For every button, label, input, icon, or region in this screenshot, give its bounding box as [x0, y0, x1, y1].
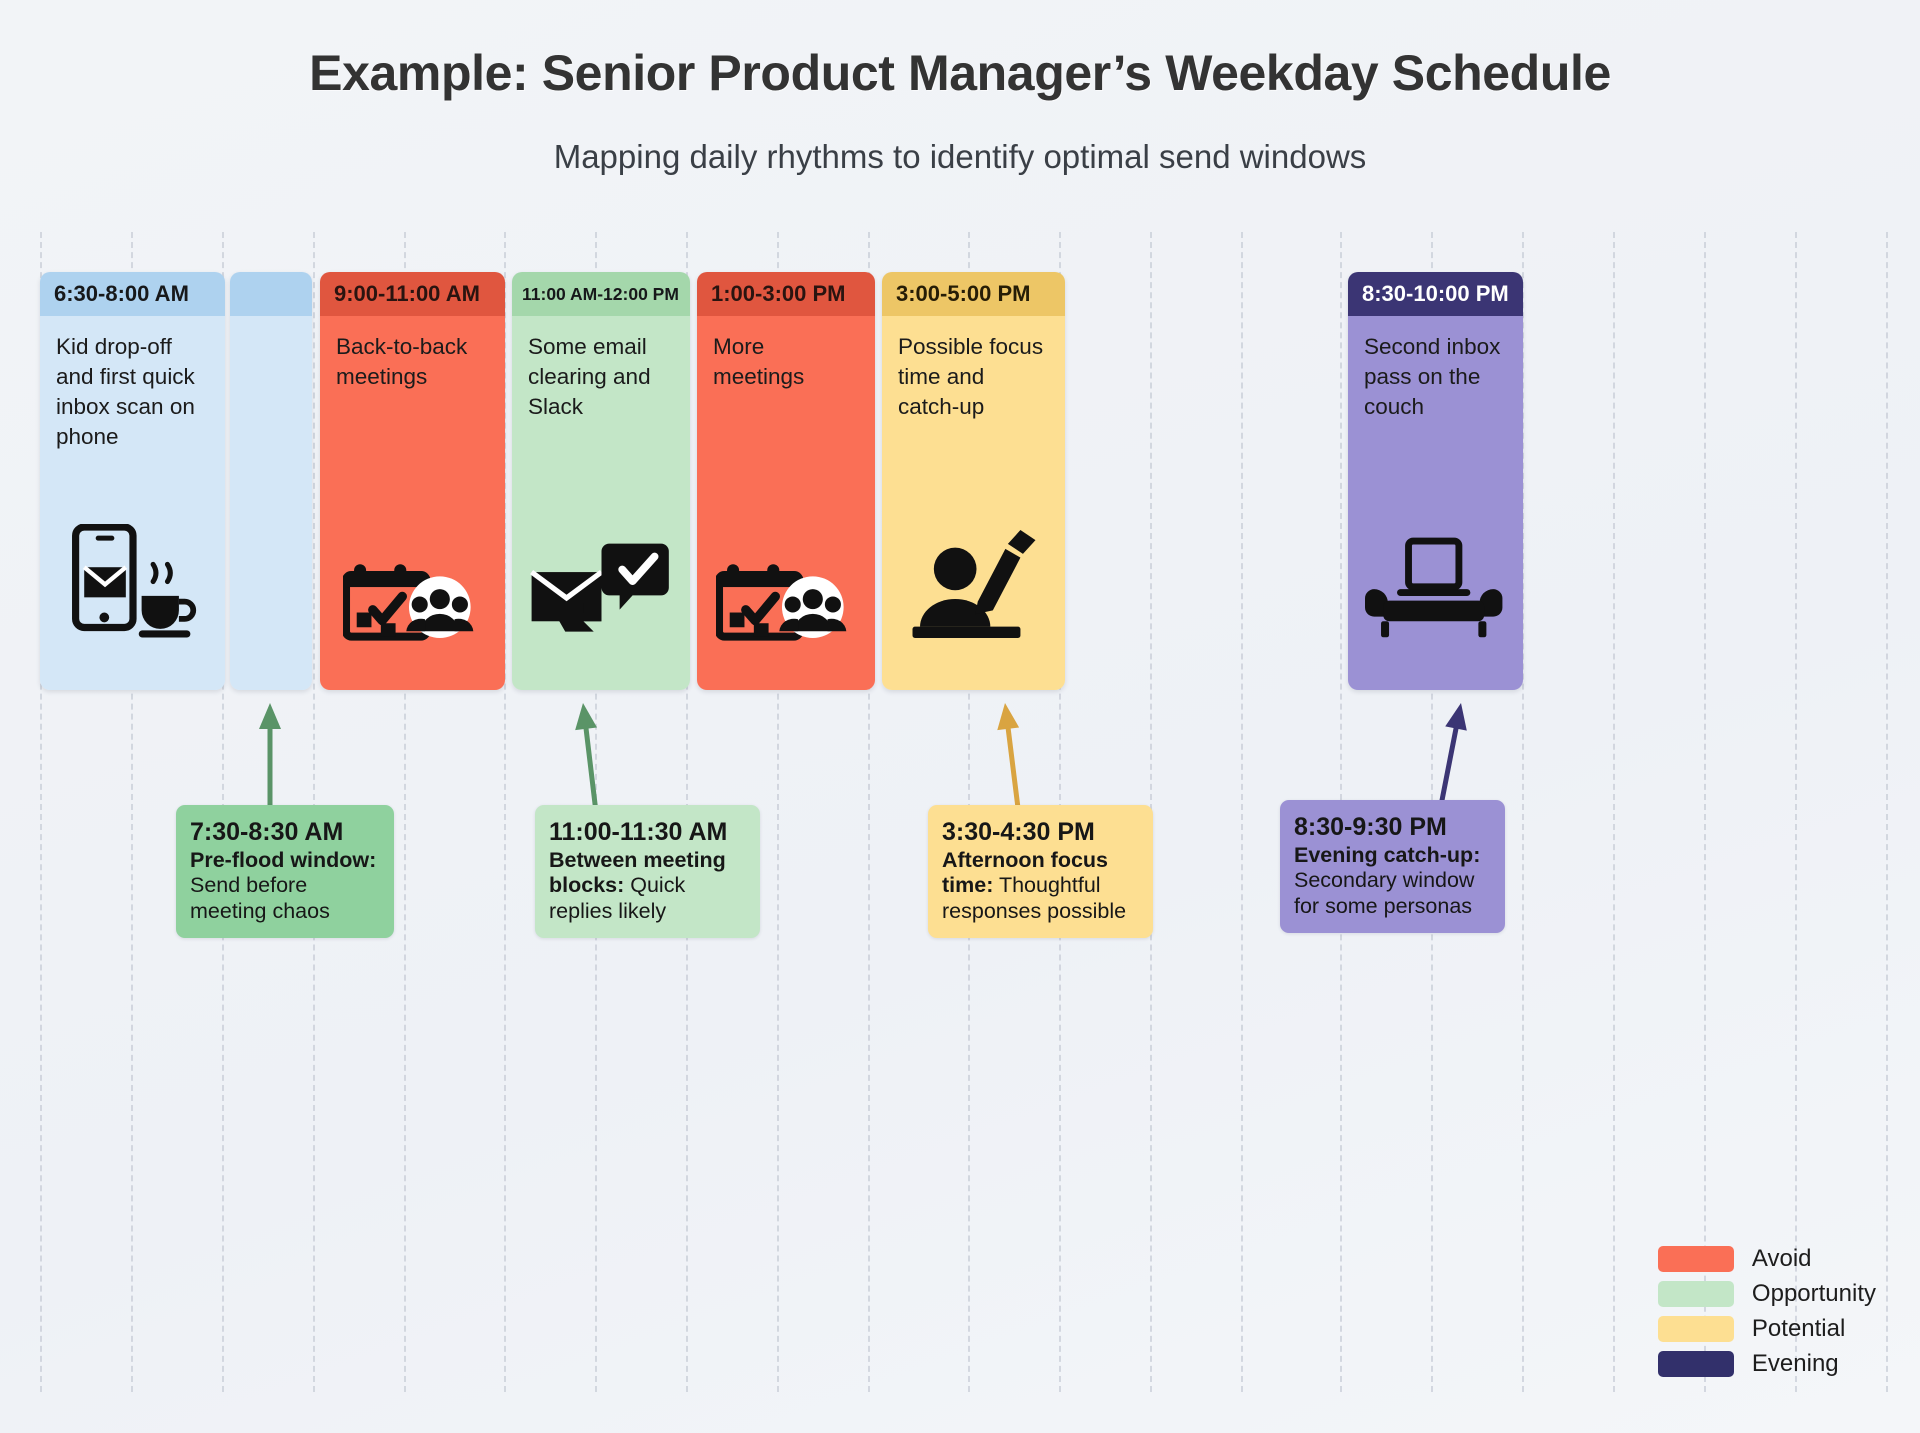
block-body: Back-to-back meetings [320, 316, 505, 690]
timeline-block-email-clearing[interactable]: 11:00 AM-12:00 PMSome email clearing and… [512, 272, 690, 690]
legend-swatch [1658, 1281, 1734, 1307]
timeline-block-back-to-back-meetings[interactable]: 9:00-11:00 AMBack-to-back meetings [320, 272, 505, 690]
arrow-head [259, 703, 281, 729]
block-time-label: 3:00-5:00 PM [882, 272, 1065, 316]
calendar-check-people-icon [697, 508, 875, 642]
laptop-couch-icon [1348, 534, 1523, 642]
block-description: Second inbox pass on the couch [1364, 332, 1507, 422]
block-description: Some email clearing and Slack [528, 332, 674, 422]
email-forward-check-icon [512, 541, 690, 642]
callout-label: Evening catch-up: [1294, 843, 1480, 867]
legend-swatch [1658, 1351, 1734, 1377]
block-time-label: 6:30-8:00 AM [40, 272, 225, 316]
block-description: Kid drop-off and first quick inbox scan … [56, 332, 209, 452]
block-time-label: 1:00-3:00 PM [697, 272, 875, 316]
calendar-check-people-icon [320, 508, 505, 642]
arrow-head [997, 703, 1019, 730]
legend-item-evening: Evening [1658, 1346, 1876, 1381]
callout-time: 7:30-8:30 AM [190, 818, 380, 847]
block-description: More meetings [713, 332, 859, 392]
callout-pre-flood-window[interactable]: 7:30-8:30 AMPre-flood window: Send befor… [176, 805, 394, 938]
callout-description: Pre-flood window: Send before meeting ch… [190, 848, 380, 924]
block-body: Kid drop-off and first quick inbox scan … [40, 316, 225, 690]
legend-item-potential: Potential [1658, 1311, 1876, 1346]
callout-label: Afternoon focus time: [942, 848, 1108, 897]
callout-time: 3:30-4:30 PM [942, 818, 1139, 847]
gridline-18 [1704, 232, 1706, 1392]
callout-time: 11:00-11:30 AM [549, 818, 746, 847]
gridline-17 [1613, 232, 1615, 1392]
timeline-block-evening-inbox[interactable]: 8:30-10:00 PMSecond inbox pass on the co… [1348, 272, 1523, 690]
callout-time: 8:30-9:30 PM [1294, 813, 1491, 842]
callout-description: Between meeting blocks: Quick replies li… [549, 848, 746, 924]
arrow-head [1445, 703, 1467, 731]
legend-label: Evening [1752, 1350, 1839, 1378]
callout-between-meeting-blocks[interactable]: 11:00-11:30 AMBetween meeting blocks: Qu… [535, 805, 760, 938]
legend-swatch [1658, 1246, 1734, 1272]
legend-label: Avoid [1752, 1245, 1812, 1273]
gridline-20 [1886, 232, 1888, 1392]
block-time-label: 11:00 AM-12:00 PM [512, 272, 690, 316]
block-time-label: 9:00-11:00 AM [320, 272, 505, 316]
callout-description: Afternoon focus time: Thoughtful respons… [942, 848, 1139, 924]
block-body: More meetings [697, 316, 875, 690]
timeline-block-focus-time[interactable]: 3:00-5:00 PMPossible focus time and catc… [882, 272, 1065, 690]
phone-email-coffee-icon [40, 524, 225, 642]
legend-item-opportunity: Opportunity [1658, 1276, 1876, 1311]
block-body: Possible focus time and catch-up [882, 316, 1065, 690]
legend-label: Opportunity [1752, 1280, 1876, 1308]
person-writing-icon [882, 526, 1065, 642]
block-time-label: 8:30-10:00 PM [1348, 272, 1523, 316]
callout-arrows [0, 0, 1920, 1433]
callout-evening-catch-up[interactable]: 8:30-9:30 PMEvening catch-up: Secondary … [1280, 800, 1505, 933]
timeline-block-more-meetings[interactable]: 1:00-3:00 PMMore meetings [697, 272, 875, 690]
legend-label: Potential [1752, 1315, 1845, 1343]
gridline-13 [1241, 232, 1243, 1392]
gridline-19 [1795, 232, 1797, 1392]
infographic-canvas: Example: Senior Product Manager’s Weekda… [0, 0, 1920, 1433]
callout-afternoon-focus-time[interactable]: 3:30-4:30 PMAfternoon focus time: Though… [928, 805, 1153, 938]
timeline-block-commute-gap[interactable] [230, 272, 312, 690]
block-body [230, 316, 312, 690]
legend-swatch [1658, 1316, 1734, 1342]
page-subtitle: Mapping daily rhythms to identify optima… [0, 138, 1920, 176]
block-body: Some email clearing and Slack [512, 316, 690, 690]
block-description: Back-to-back meetings [336, 332, 489, 392]
block-description: Possible focus time and catch-up [898, 332, 1049, 422]
page-title: Example: Senior Product Manager’s Weekda… [0, 44, 1920, 102]
timeline-block-morning-routine[interactable]: 6:30-8:00 AMKid drop-off and first quick… [40, 272, 225, 690]
arrow-head [575, 703, 597, 730]
legend: AvoidOpportunityPotentialEvening [1658, 1241, 1876, 1381]
legend-item-avoid: Avoid [1658, 1241, 1876, 1276]
block-time-label [230, 272, 312, 316]
callout-label: Between meeting blocks: [549, 848, 726, 897]
callout-label: Pre-flood window: [190, 848, 376, 872]
callout-description: Evening catch-up: Secondary window for s… [1294, 843, 1491, 919]
block-body: Second inbox pass on the couch [1348, 316, 1523, 690]
